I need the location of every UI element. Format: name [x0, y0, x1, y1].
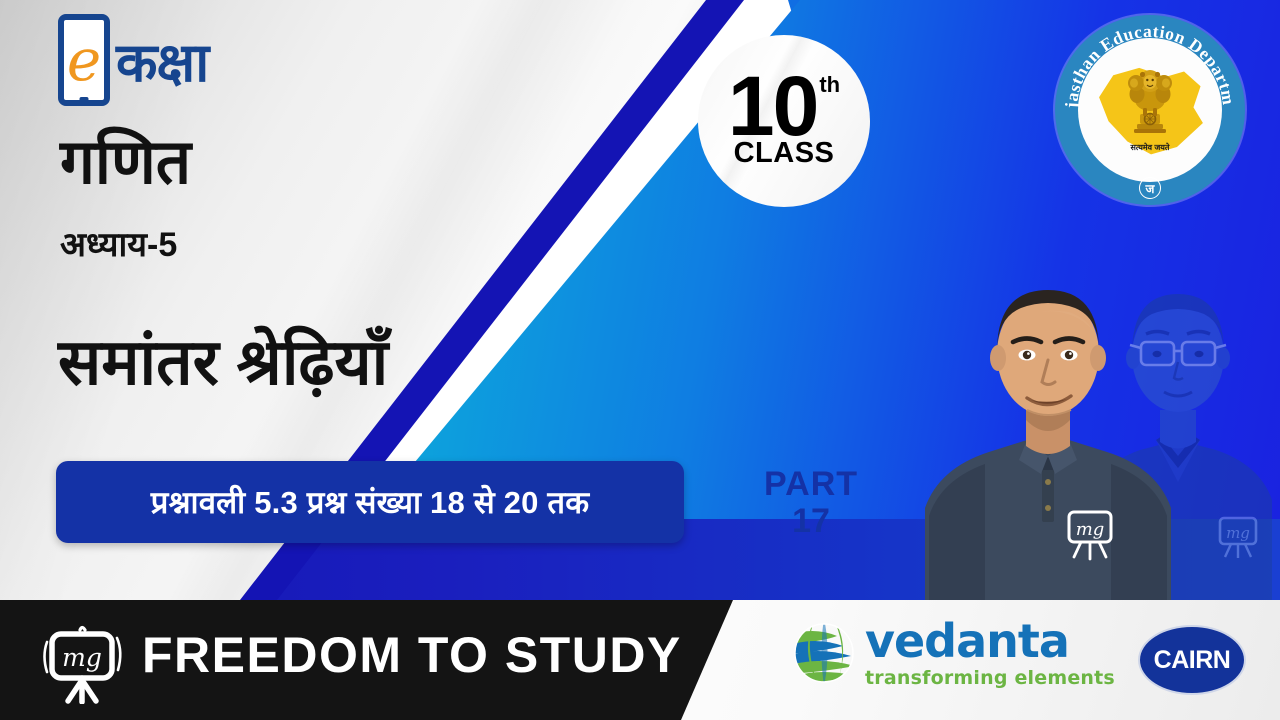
class-badge: 10 th CLASS: [698, 35, 870, 207]
thumbnail-canvas: e कक्षा गणित अध्याय-5 समांतर श्रेढ़ियाँ …: [0, 0, 1280, 720]
class-badge-superscript: th: [819, 76, 840, 94]
ashoka-emblem-icon: [1123, 54, 1177, 146]
part-indicator: PART 17: [736, 466, 886, 539]
vedanta-sponsor-logo: vedanta transforming elements: [793, 618, 1115, 689]
svg-text:mg: mg: [62, 643, 102, 672]
instructor-primary-photo: mg: [923, 260, 1173, 600]
vedanta-globe-icon: [793, 622, 855, 684]
svg-text:mg: mg: [1226, 524, 1250, 542]
instructor-photos: mg: [905, 225, 1280, 600]
topic-title: समांतर श्रेढ़ियाँ: [58, 316, 388, 403]
footer-tagline: FREEDOM TO STUDY: [142, 626, 682, 684]
ekaksha-logo-word: कक्षा: [116, 23, 208, 97]
emblem-motto: सत्यमेव जयते: [1131, 142, 1170, 153]
cairn-sponsor-logo: CAIRN: [1138, 625, 1246, 695]
class-badge-number-row: 10 th: [728, 72, 840, 141]
mg-blackboard-icon: mg: [38, 622, 130, 704]
ekaksha-logo: e कक्षा: [58, 14, 208, 106]
ekaksha-logo-e: e: [67, 37, 101, 83]
class-badge-label: CLASS: [734, 137, 835, 170]
part-label: PART: [736, 466, 886, 503]
svg-text:mg: mg: [1076, 519, 1105, 540]
vedanta-tagline: transforming elements: [865, 667, 1115, 689]
part-number: 17: [736, 503, 886, 540]
smartphone-icon: e: [58, 14, 110, 106]
chapter-label: अध्याय-5: [60, 220, 177, 266]
rajasthan-education-department-logo: Rajasthan Education Department: [1055, 15, 1245, 205]
cairn-name: CAIRN: [1154, 646, 1231, 675]
logo-bottom-mark: ज: [1139, 177, 1161, 199]
exercise-banner: प्रश्नावली 5.3 प्रश्न संख्या 18 से 20 तक: [56, 461, 684, 543]
exercise-banner-text: प्रश्नावली 5.3 प्रश्न संख्या 18 से 20 तक: [151, 481, 590, 523]
vedanta-text-block: vedanta transforming elements: [865, 618, 1115, 689]
logo-inner-disc: सत्यमेव जयते: [1078, 38, 1222, 182]
class-badge-number: 10: [728, 72, 817, 141]
vedanta-name: vedanta: [865, 618, 1115, 664]
subject-title: गणित: [60, 118, 191, 202]
